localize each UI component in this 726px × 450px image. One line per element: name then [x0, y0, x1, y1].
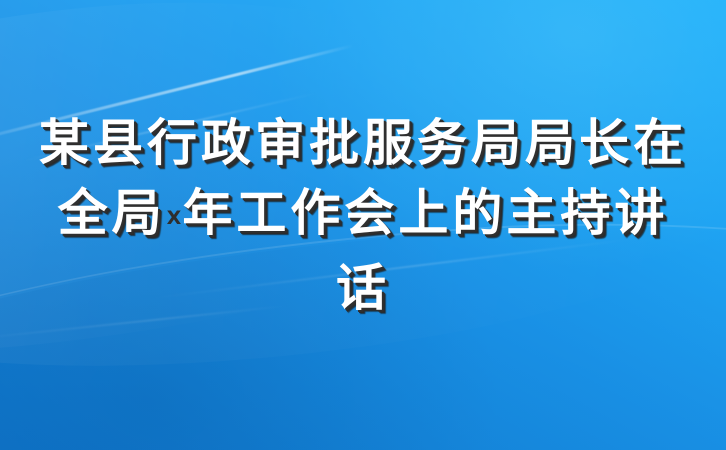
title-line-3: 话 — [0, 253, 726, 323]
title-line-2-prefix: 全局 — [58, 183, 166, 242]
poster-title: 某县行政审批服务局局长在 全局X年工作会上的主持讲 话 — [0, 108, 726, 323]
title-line-2-suffix: 年工作会上的主持讲 — [182, 183, 668, 242]
title-line-1: 某县行政审批服务局局长在 — [0, 108, 726, 178]
poster-canvas: 某县行政审批服务局局长在 全局X年工作会上的主持讲 话 — [0, 0, 726, 450]
title-line-2: 全局X年工作会上的主持讲 — [0, 178, 726, 253]
year-placeholder-token: X — [166, 207, 183, 229]
